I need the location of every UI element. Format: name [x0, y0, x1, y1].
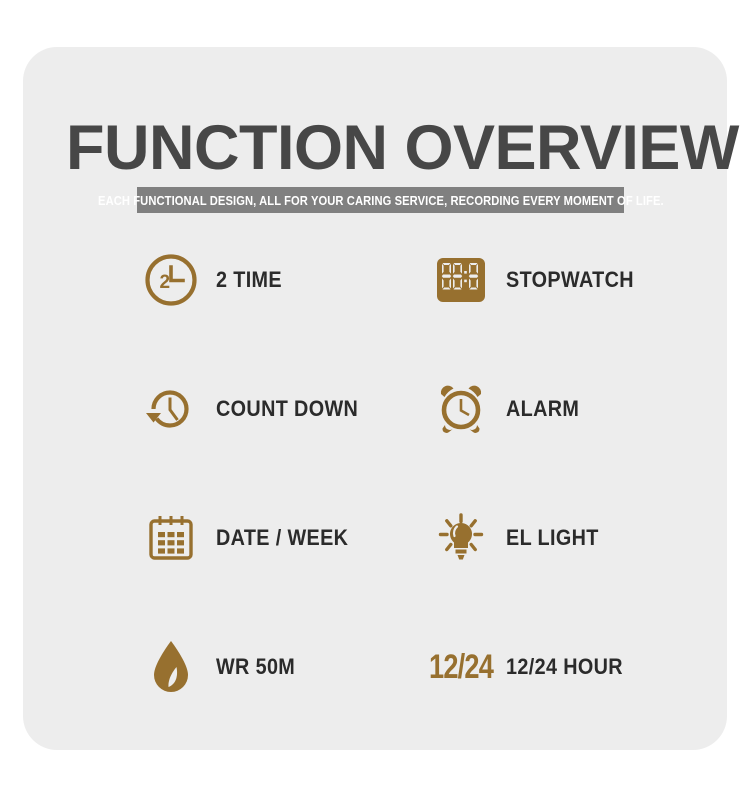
feature-item-alarm[interactable]: ALARM: [430, 378, 720, 507]
feature-label: WR 50M: [216, 636, 295, 698]
feature-label: EL LIGHT: [506, 507, 599, 569]
feature-item-12-24-hour[interactable]: 12/24 12/24 HOUR: [430, 636, 720, 765]
feature-item-date-week[interactable]: DATE / WEEK: [140, 507, 430, 636]
feature-row: DATE / WEEK: [0, 507, 750, 636]
feature-row: 2 2 TIME: [0, 249, 750, 378]
feature-item-2-time[interactable]: 2 2 TIME: [140, 249, 430, 378]
digital-stopwatch-icon: [430, 249, 492, 311]
feature-item-count-down[interactable]: COUNT DOWN: [140, 378, 430, 507]
countdown-clock-icon: [140, 378, 202, 440]
page-title: FUNCTION OVERVIEW: [66, 116, 739, 180]
feature-label: COUNT DOWN: [216, 378, 358, 440]
feature-label: 12/24 HOUR: [506, 636, 623, 698]
subtitle-text: EACH FUNCTIONAL DESIGN, ALL FOR YOUR CAR…: [98, 193, 664, 208]
feature-label: DATE / WEEK: [216, 507, 348, 569]
twelve-twentyfour-text-icon: 12/24: [430, 636, 492, 698]
clock-two-time-icon: 2: [140, 249, 202, 311]
function-overview-page: FUNCTION OVERVIEW EACH FUNCTIONAL DESIGN…: [0, 0, 750, 800]
calendar-icon: [140, 507, 202, 569]
feature-item-el-light[interactable]: EL LIGHT: [430, 507, 720, 636]
feature-label: STOPWATCH: [506, 249, 634, 311]
icon-text-12-24: 12/24: [429, 636, 493, 698]
alarm-clock-icon: [430, 378, 492, 440]
feature-row: COUNT DOWN ALARM: [0, 378, 750, 507]
feature-row: WR 50M 12/24 12/24 HOUR: [0, 636, 750, 765]
feature-grid: 2 2 TIME: [0, 249, 750, 765]
subtitle-banner: EACH FUNCTIONAL DESIGN, ALL FOR YOUR CAR…: [137, 187, 624, 213]
svg-text:2: 2: [160, 272, 171, 293]
feature-item-stopwatch[interactable]: STOPWATCH: [430, 249, 720, 378]
water-drop-icon: [140, 636, 202, 698]
feature-label: 2 TIME: [216, 249, 282, 311]
feature-label: ALARM: [506, 378, 579, 440]
light-bulb-icon: [430, 507, 492, 569]
feature-item-wr-50m[interactable]: WR 50M: [140, 636, 430, 765]
